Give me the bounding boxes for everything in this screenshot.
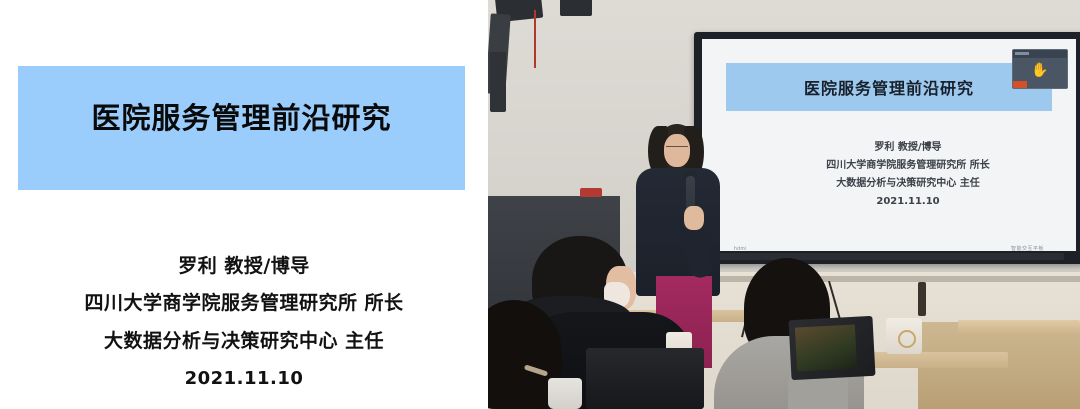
screenshot-root: 医院服务管理前沿研究 罗利 教授/博导 四川大学商学院服务管理研究所 所长 大数… [0, 0, 1080, 409]
pip-overlay-window: ✋ [1012, 49, 1068, 89]
pip-titlebar [1013, 50, 1067, 58]
page-title: 医院服务管理前沿研究 [18, 98, 465, 138]
projected-title: 医院服务管理前沿研究 [726, 75, 1052, 99]
pip-title-placeholder [1015, 52, 1029, 55]
projected-affiliation-institute: 四川大学商学院服务管理研究所 所长 [750, 157, 1066, 175]
affiliation-institute: 四川大学商学院服务管理研究所 所长 [0, 284, 488, 322]
presenter-hand [684, 206, 704, 230]
projected-title-banner: 医院服务管理前沿研究 [726, 63, 1052, 111]
projected-affiliation-center: 大数据分析与决策研究中心 主任 [750, 175, 1066, 193]
wall-mount-plate [490, 52, 506, 112]
slide-panel: 医院服务管理前沿研究 罗利 教授/博导 四川大学商学院服务管理研究所 所长 大数… [0, 0, 488, 409]
hand-cursor-icon: ✋ [1031, 61, 1048, 78]
ceiling-speaker-secondary [560, 0, 592, 16]
cup-logo-icon [898, 330, 916, 348]
screen-label-left: hdmi [734, 246, 747, 252]
cabinet-red-marker [580, 188, 602, 197]
screen-label-right: 智能交互平板 [1011, 245, 1044, 252]
paper-cup-left [548, 378, 582, 409]
whiteboard-rail [676, 276, 1080, 282]
presentation-date: 2021.11.10 [0, 360, 488, 398]
title-banner: 医院服务管理前沿研究 [18, 66, 465, 190]
affiliation-center: 大数据分析与决策研究中心 主任 [0, 322, 488, 360]
projected-subtitle-block: 罗利 教授/博导 四川大学商学院服务管理研究所 所长 大数据分析与决策研究中心 … [750, 139, 1066, 211]
red-cable [534, 10, 536, 68]
lecture-photo: 医院服务管理前沿研究 罗利 教授/博导 四川大学商学院服务管理研究所 所长 大数… [488, 0, 1080, 409]
projected-date: 2021.11.10 [750, 193, 1066, 211]
laptop-front [586, 348, 704, 409]
laptop-right-display [795, 324, 857, 371]
presenter-name-title: 罗利 教授/博导 [0, 248, 488, 284]
subtitle-block: 罗利 教授/博导 四川大学商学院服务管理研究所 所长 大数据分析与决策研究中心 … [0, 248, 488, 398]
hanging-cable-bundle [918, 282, 926, 316]
glasses-icon [666, 146, 688, 153]
screen-content: 医院服务管理前沿研究 罗利 教授/博导 四川大学商学院服务管理研究所 所长 大数… [702, 39, 1076, 251]
pip-app-badge-icon [1012, 81, 1027, 89]
display-screen: 医院服务管理前沿研究 罗利 教授/博导 四川大学商学院服务管理研究所 所长 大数… [694, 32, 1080, 264]
projected-presenter-name: 罗利 教授/博导 [750, 139, 1066, 157]
desk-right [958, 320, 1080, 334]
screen-bottom-bezel [708, 253, 1064, 260]
